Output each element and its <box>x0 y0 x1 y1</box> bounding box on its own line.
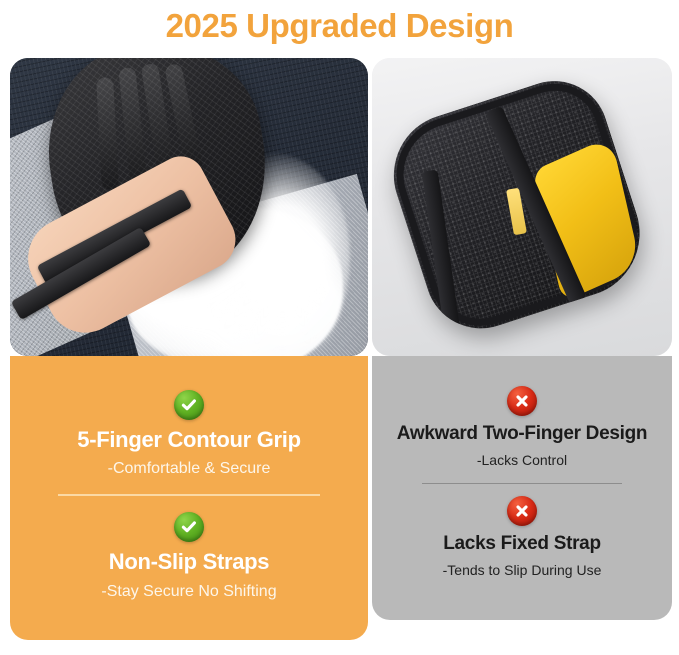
drawback-title: Awkward Two-Finger Design <box>397 423 647 445</box>
competitor-drawbacks-panel: Awkward Two-Finger Design -Lacks Control… <box>372 356 672 620</box>
competitor-product-photo <box>372 58 672 356</box>
panel-divider <box>422 483 622 485</box>
page-title: 2025 Upgraded Design <box>166 7 514 45</box>
cross-circle-icon <box>507 496 537 526</box>
drawback-item: Awkward Two-Finger Design -Lacks Control <box>372 376 672 473</box>
drawback-subtitle: -Tends to Slip During Use <box>443 562 602 579</box>
cross-circle-icon <box>507 386 537 416</box>
feature-item: 5-Finger Contour Grip -Comfortable & Sec… <box>10 376 368 484</box>
drawback-title: Lacks Fixed Strap <box>443 533 601 555</box>
check-circle-icon <box>174 390 204 420</box>
good-features-panel: 5-Finger Contour Grip -Comfortable & Sec… <box>10 356 368 640</box>
check-circle-icon <box>174 512 204 542</box>
panel-divider <box>58 494 320 496</box>
drawback-item: Lacks Fixed Strap -Tends to Slip During … <box>372 486 672 583</box>
good-product-column: 5-Finger Contour Grip -Comfortable & Sec… <box>10 58 368 356</box>
comparison-infographic: 2025 Upgraded Design <box>0 0 679 655</box>
feature-subtitle: -Stay Secure No Shifting <box>101 582 276 601</box>
glove-finger-ridge <box>96 77 119 190</box>
good-product-photo <box>10 58 368 356</box>
competitor-product-column: Awkward Two-Finger Design -Lacks Control… <box>372 58 672 356</box>
feature-title: Non-Slip Straps <box>109 549 270 574</box>
feature-item: Non-Slip Straps -Stay Secure No Shifting <box>10 498 368 606</box>
title-bar: 2025 Upgraded Design <box>0 0 679 52</box>
feature-subtitle: -Comfortable & Secure <box>108 459 271 478</box>
drawback-subtitle: -Lacks Control <box>477 452 567 469</box>
feature-title: 5-Finger Contour Grip <box>77 427 300 452</box>
